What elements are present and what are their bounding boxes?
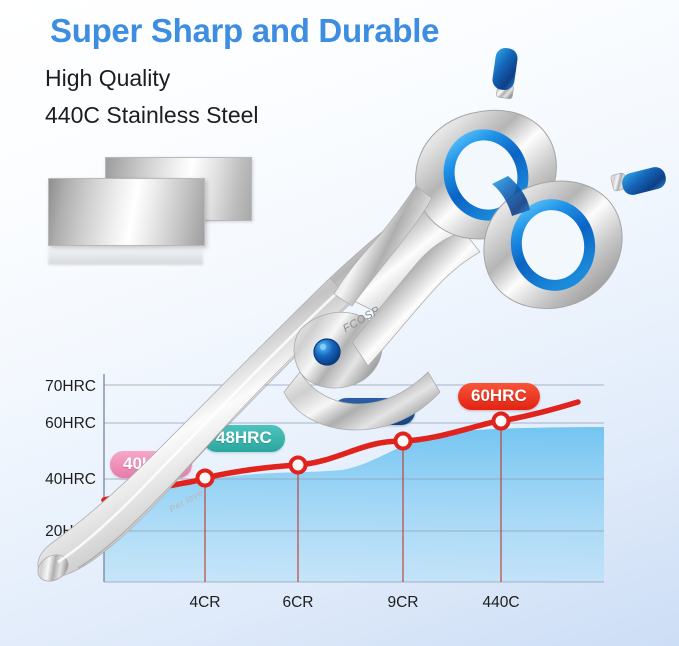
x-tick-label-6cr: 6CR xyxy=(258,594,338,612)
hardness-badge-40hrc: 40HRC xyxy=(110,451,192,478)
y-tick-label-70: 70HRC xyxy=(20,378,96,396)
hardness-chart xyxy=(0,0,679,646)
x-tick-label-4cr: 4CR xyxy=(165,594,245,612)
y-tick-label-40: 40HRC xyxy=(20,471,96,489)
hardness-badge-60hrc: 60HRC xyxy=(458,383,540,410)
hardness-badge-48hrc: 48HRC xyxy=(203,425,285,452)
x-tick-label-9cr: 9CR xyxy=(363,594,443,612)
y-tick-label-60: 60HRC xyxy=(20,415,96,433)
hardness-badge-54hrc: 54HRC xyxy=(333,398,415,425)
x-tick-label-440c: 440C xyxy=(461,594,541,612)
y-tick-label-20: 20HRC xyxy=(20,523,96,541)
product-infographic: Super Sharp and Durable High Quality 440… xyxy=(0,0,679,646)
